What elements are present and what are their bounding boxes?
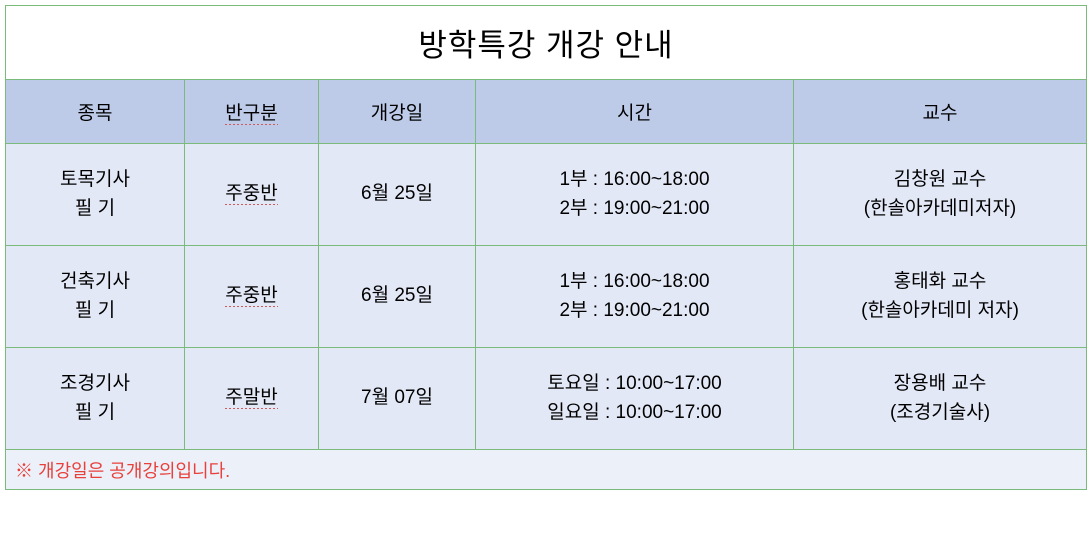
cell-subject: 토목기사 필 기: [6, 144, 185, 246]
cell-time: 토요일 : 10:00~17:00 일요일 : 10:00~17:00: [476, 348, 794, 450]
cell-start-date: 7월 07일: [319, 348, 476, 450]
cell-class-type-label: 주말반: [225, 387, 277, 409]
cell-professor: 김창원 교수 (한솔아카데미저자): [794, 144, 1087, 246]
cell-class-type: 주중반: [185, 144, 319, 246]
footnote-mark-icon: ※: [15, 461, 33, 481]
table-row: 조경기사 필 기 주말반 7월 07일 토요일 : 10:00~17:00 일요…: [6, 348, 1087, 450]
table-header-row: 종목 반구분 개강일 시간 교수: [6, 80, 1087, 144]
column-header-class-type: 반구분: [185, 80, 319, 144]
cell-class-type: 주중반: [185, 246, 319, 348]
column-header-start-date: 개강일: [319, 80, 476, 144]
cell-subject: 조경기사 필 기: [6, 348, 185, 450]
cell-class-type-label: 주중반: [225, 285, 277, 307]
footnote-text: 개강일은 공개강의입니다.: [38, 461, 230, 481]
cell-start-date: 6월 25일: [319, 246, 476, 348]
column-header-professor: 교수: [794, 80, 1087, 144]
column-header-time: 시간: [476, 80, 794, 144]
table-row: 토목기사 필 기 주중반 6월 25일 1부 : 16:00~18:00 2부 …: [6, 144, 1087, 246]
cell-professor: 홍태화 교수 (한솔아카데미 저자): [794, 246, 1087, 348]
column-header-subject: 종목: [6, 80, 185, 144]
cell-professor: 장용배 교수 (조경기술사): [794, 348, 1087, 450]
title-row: 방학특강 개강 안내: [6, 6, 1087, 80]
table-row: 건축기사 필 기 주중반 6월 25일 1부 : 16:00~18:00 2부 …: [6, 246, 1087, 348]
cell-subject: 건축기사 필 기: [6, 246, 185, 348]
document-page: 방학특강 개강 안내 종목 반구분 개강일 시간 교수 토목기사 필 기 주중반…: [0, 5, 1089, 538]
page-title: 방학특강 개강 안내: [6, 6, 1087, 80]
cell-start-date: 6월 25일: [319, 144, 476, 246]
footnote: ※ 개강일은 공개강의입니다.: [6, 450, 1087, 490]
column-header-class-type-label: 반구분: [225, 103, 277, 125]
cell-time: 1부 : 16:00~18:00 2부 : 19:00~21:00: [476, 144, 794, 246]
cell-class-type: 주말반: [185, 348, 319, 450]
course-schedule-table: 방학특강 개강 안내 종목 반구분 개강일 시간 교수 토목기사 필 기 주중반…: [5, 5, 1087, 490]
cell-time: 1부 : 16:00~18:00 2부 : 19:00~21:00: [476, 246, 794, 348]
footnote-row: ※ 개강일은 공개강의입니다.: [6, 450, 1087, 490]
cell-class-type-label: 주중반: [225, 183, 277, 205]
